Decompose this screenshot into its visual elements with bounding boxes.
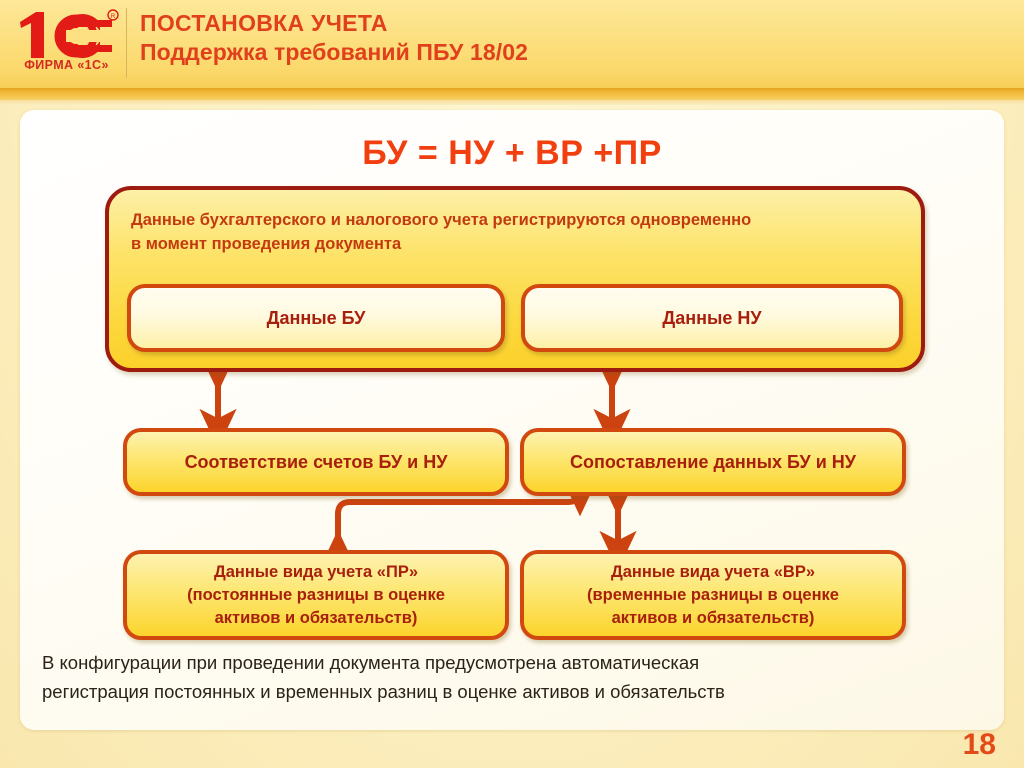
- logo-caption: ФИРМА «1С»: [14, 58, 119, 72]
- header-title-group: ПОСТАНОВКА УЧЕТА Поддержка требований ПБ…: [140, 9, 528, 67]
- box-vr-data-text: Данные вида учета «ВР» (временные разниц…: [587, 561, 839, 630]
- header-title-secondary: Поддержка требований ПБУ 18/02: [140, 37, 528, 67]
- slide-caption: В конфигурации при проведении документа …: [42, 648, 982, 706]
- box-accounts-match[interactable]: Соответствие счетов БУ и НУ: [123, 428, 509, 496]
- caption-line1: В конфигурации при проведении документа …: [42, 652, 699, 673]
- box-accounts-match-label: Соответствие счетов БУ и НУ: [185, 452, 448, 473]
- header-accent-band-light: [0, 100, 1024, 105]
- box-pr-line2: (постоянные разницы в оценке: [187, 586, 445, 604]
- box-pr-data-text: Данные вида учета «ПР» (постоянные разни…: [187, 561, 445, 630]
- box-pr-line3: активов и обязательств): [215, 609, 418, 627]
- box-vr-data[interactable]: Данные вида учета «ВР» (временные разниц…: [520, 550, 906, 640]
- box-data-compare[interactable]: Сопоставление данных БУ и НУ: [520, 428, 906, 496]
- page-title: БУ = НУ + ВР +ПР: [20, 134, 1004, 173]
- box-bu-data[interactable]: Данные БУ: [127, 284, 505, 352]
- outer-box-line2: в момент проведения документа: [131, 235, 401, 253]
- content-panel: БУ = НУ + ВР +ПР Данные бухгалтерского и…: [20, 110, 1004, 730]
- box-nu-data-label: Данные НУ: [662, 308, 761, 329]
- header-accent-band: [0, 88, 1024, 100]
- header-title-primary: ПОСТАНОВКА УЧЕТА: [140, 9, 528, 37]
- outer-box-text: Данные бухгалтерского и налогового учета…: [131, 208, 891, 256]
- outer-registration-box: Данные бухгалтерского и налогового учета…: [105, 186, 925, 372]
- box-nu-data[interactable]: Данные НУ: [521, 284, 903, 352]
- box-vr-line2: (временные разницы в оценке: [587, 586, 839, 604]
- box-pr-data[interactable]: Данные вида учета «ПР» (постоянные разни…: [123, 550, 509, 640]
- box-data-compare-label: Сопоставление данных БУ и НУ: [570, 452, 856, 473]
- box-vr-line3: активов и обязательств): [612, 609, 815, 627]
- page-number: 18: [963, 728, 996, 762]
- slide-header: R ФИРМА «1С» ПОСТАНОВКА УЧЕТА Поддержка …: [0, 0, 1024, 88]
- box-pr-line1: Данные вида учета «ПР»: [214, 563, 418, 581]
- box-vr-line1: Данные вида учета «ВР»: [611, 563, 815, 581]
- outer-box-line1: Данные бухгалтерского и налогового учета…: [131, 211, 751, 229]
- svg-text:R: R: [111, 14, 116, 20]
- box-bu-data-label: Данные БУ: [267, 308, 366, 329]
- caption-line2: регистрация постоянных и временных разни…: [42, 681, 725, 702]
- header-divider: [126, 8, 127, 78]
